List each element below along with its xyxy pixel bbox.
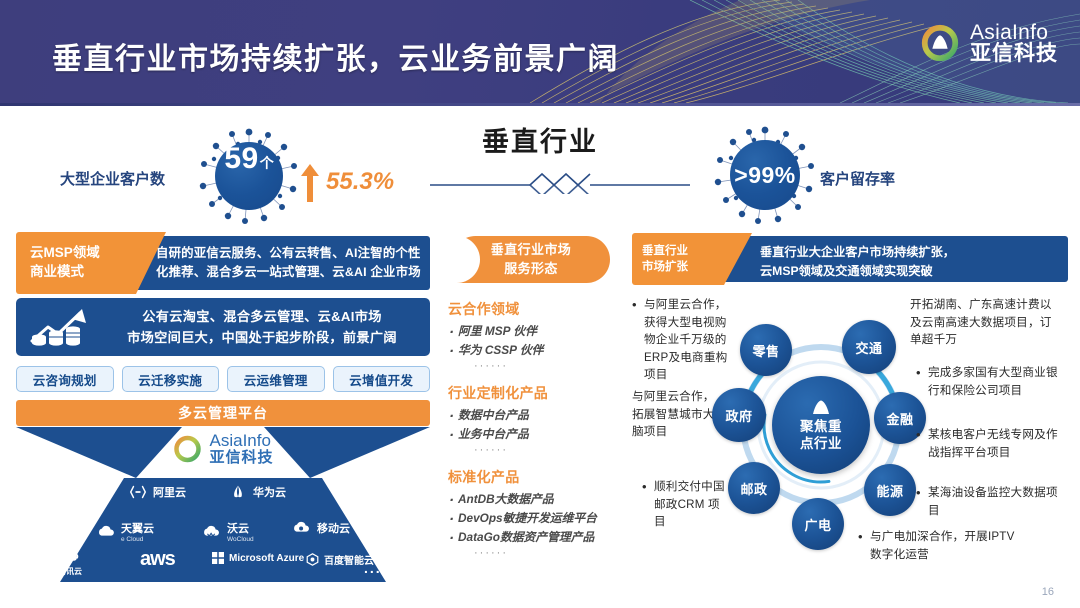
vendor-name: 腾讯云	[58, 566, 82, 577]
vendor-aliyun: 阿里云	[128, 484, 186, 500]
list-item: DataGo数据资产管理产品	[448, 528, 620, 547]
bullet-text: 某核电客户无线专网及作战指挥平台项目	[928, 428, 1058, 459]
market-expansion-headline: 垂直行业大企业客户市场持续扩张， 云MSP领域及交通领域实现突破	[760, 243, 1060, 281]
market-opportunity-bar: 公有云淘宝、混合多云管理、云&AI市场 市场空间巨大，中国处于起步阶段，前景广阔	[16, 298, 430, 356]
vendor-name: 移动云	[317, 520, 350, 536]
bullet-offshore-oil: • 某海油设备监控大数据项目	[928, 484, 1062, 519]
vendor-wo-cloud: 沃云WoCloud	[202, 520, 254, 543]
section-title-vertical-industry: 垂直行业	[0, 120, 1080, 159]
hub-node-government[interactable]: 政府	[712, 388, 766, 442]
vendor-name: ...	[364, 560, 382, 576]
hub-node-label: 金融	[886, 409, 913, 428]
vendor-huawei-cloud: 华为云	[228, 484, 286, 500]
list-item: DevOps敏捷开发运维平台	[448, 509, 620, 528]
bullet-text: 与广电加深合作，开展IPTV数字化运营	[870, 530, 1015, 561]
group-heading: 云合作领域	[448, 299, 620, 319]
hub-node-label: 政府	[725, 406, 752, 425]
bullet-smart-city: 与阿里云合作，拓展智慧城市大脑项目	[632, 388, 720, 441]
group-heading: 行业定制化产品	[448, 383, 620, 403]
headline-line2: 云MSP领域及交通领域实现突破	[760, 262, 1060, 281]
chip-cloud-migration[interactable]: 云迁移实施	[122, 366, 220, 392]
hub-node-label: 广电	[804, 515, 831, 534]
hub-node-broadcast[interactable]: 广电	[792, 498, 844, 550]
msp-description-line2: 化推荐、混合多云一站式管理、云&AI 企业市场	[156, 263, 422, 282]
stat-large-enterprise-customers: 59 个	[190, 126, 308, 226]
bullet-text: 某海油设备监控大数据项目	[928, 486, 1058, 517]
vendor-subname: WoCloud	[227, 536, 254, 543]
stat-value: >99%	[734, 162, 795, 189]
bullet-text: 开拓湖南、广东高速计费以及云南高速大数据项目，订单超千万	[910, 298, 1052, 346]
group-standard-products: 标准化产品 AntDB大数据产品 DevOps敏捷开发运维平台 DataGo数据…	[448, 467, 620, 561]
tencent-icon	[58, 548, 82, 565]
group-heading: 标准化产品	[448, 467, 620, 487]
cloud-icon	[96, 524, 116, 540]
decorative-divider	[430, 168, 690, 194]
hub-core: 聚焦重 点行业	[772, 376, 870, 474]
bullet-text: 与阿里云合作，拓展智慧城市大脑项目	[632, 390, 715, 438]
slide-root: 垂直行业市场持续扩张，云业务前景广阔 AsiaInfo 亚信科技 垂直行业	[0, 0, 1080, 608]
bullet-text: 完成多家国有大型商业银行和保险公司项目	[928, 366, 1058, 397]
bullet-dot: •	[642, 477, 647, 497]
vendor-name: 阿里云	[153, 484, 186, 500]
asiainfo-logo-icon	[919, 22, 961, 64]
growth-percent: 55.3%	[326, 168, 394, 196]
arrow-up-icon	[300, 162, 320, 202]
msp-description: 自研的亚信云服务、公有云转售、AI注智的个性 化推荐、混合多云一站式管理、云&A…	[156, 244, 422, 282]
hub-node-transport[interactable]: 交通	[842, 320, 896, 374]
bullet-dot: •	[916, 483, 921, 503]
bullet-dot: •	[916, 363, 921, 383]
bullet-text: 与阿里云合作，获得大型电视购物企业千万级的ERP及电商重构项目	[644, 298, 727, 381]
stat-customer-retention: >99%	[706, 124, 824, 226]
bullet-dot: •	[632, 295, 637, 315]
vendor-mobile-cloud: 移动云	[292, 520, 350, 536]
hub-core-line1: 聚焦重	[800, 419, 842, 436]
list-item: AntDB大数据产品	[448, 490, 620, 509]
list-item: 阿里 MSP 伙伴	[448, 322, 620, 341]
hub-node-retail[interactable]: 零售	[740, 324, 792, 376]
market-expansion-tag-arrow	[724, 233, 752, 285]
page-title: 垂直行业市场持续扩张，云业务前景广阔	[52, 34, 619, 78]
msp-description-line1: 自研的亚信云服务、公有云转售、AI注智的个性	[156, 244, 422, 263]
vendor-aws: aws	[140, 548, 175, 571]
vendor-name: 华为云	[253, 484, 286, 500]
stat-value-circle: 59 个	[215, 142, 283, 210]
list-item: 数据中台产品	[448, 406, 620, 425]
vendor-name: Microsoft Azure	[229, 553, 304, 564]
stat-label-right: 客户留存率	[820, 168, 895, 189]
bullet-nuclear-network: • 某核电客户无线专网及作战指挥平台项目	[928, 426, 1062, 461]
group-ellipsis: ······	[448, 547, 620, 560]
chip-cloud-value-dev[interactable]: 云增值开发	[333, 366, 431, 392]
market-expansion-tag: 垂直行业 市场扩张	[632, 233, 724, 285]
growth-indicator: 55.3%	[300, 162, 394, 202]
asiainfo-center-logo: AsiaInfo 亚信科技	[172, 432, 273, 466]
right-panel: 垂直行业 市场扩张 垂直行业大企业客户市场持续扩张， 云MSP领域及交通领域实现…	[632, 236, 1068, 586]
cloud-icon	[202, 524, 222, 540]
vendor-subname: e Cloud	[121, 536, 154, 543]
brand-name-cn: 亚信科技	[970, 43, 1058, 64]
hub-node-label: 零售	[752, 341, 779, 360]
list-item: 华为 CSSP 伙伴	[448, 341, 620, 360]
group-ellipsis: ······	[448, 444, 620, 457]
microsoft-icon	[212, 552, 224, 564]
market-line2: 市场空间巨大，中国处于起步阶段，前景广阔	[100, 327, 424, 348]
growth-chart-icon	[24, 303, 100, 351]
vendor-more-ellipsis: ...	[364, 560, 382, 576]
hub-node-label: 交通	[855, 338, 882, 357]
left-panel: 云MSP领域 商业模式 自研的亚信云服务、公有云转售、AI注智的个性 化推荐、混…	[16, 236, 430, 584]
bullet-highway-billing: 开拓湖南、广东高速计费以及云南高速大数据项目，订单超千万	[910, 296, 1062, 349]
service-forms-line1: 垂直行业市场	[491, 241, 571, 259]
cloud-icon	[292, 520, 312, 536]
stat-value: 59	[224, 142, 258, 176]
brand-name-en: AsiaInfo	[970, 22, 1058, 43]
asiainfo-name-en: AsiaInfo	[209, 432, 273, 450]
chip-cloud-ops[interactable]: 云运维管理	[227, 366, 325, 392]
asiainfo-name-cn: 亚信科技	[209, 450, 273, 466]
vendor-azure: Microsoft Azure	[212, 552, 304, 564]
slide-header: 垂直行业市场持续扩张，云业务前景广阔 AsiaInfo 亚信科技	[0, 0, 1080, 103]
cloud-vendor-list: 阿里云 华为云 天翼云e Cloud	[16, 484, 430, 582]
group-ellipsis: ······	[448, 360, 620, 373]
page-number: 16	[1042, 586, 1054, 598]
stat-value-circle: >99%	[730, 140, 800, 210]
vendor-name: aws	[140, 548, 175, 571]
hub-core-line2: 点行业	[800, 436, 842, 453]
cloud-vendor-funnel: AsiaInfo 亚信科技 阿里云	[16, 426, 430, 584]
asiainfo-mark-icon	[809, 398, 833, 416]
stat-label-left: 大型企业客户数	[60, 168, 165, 189]
stats-band: 垂直行业	[0, 106, 1080, 228]
service-chips: 云咨询规划 云迁移实施 云运维管理 云增值开发	[16, 366, 430, 392]
market-line1: 公有云淘宝、混合多云管理、云&AI市场	[100, 306, 424, 327]
bullet-state-banks: • 完成多家国有大型商业银行和保险公司项目	[928, 364, 1062, 399]
hub-node-post[interactable]: 邮政	[728, 462, 780, 514]
group-cloud-partnership: 云合作领域 阿里 MSP 伙伴 华为 CSSP 伙伴 ······	[448, 299, 620, 373]
vendor-tencent-cloud: 腾讯云	[58, 548, 82, 577]
asiainfo-logo-icon	[172, 434, 202, 464]
middle-panel: 垂直行业市场 服务形态 云合作领域 阿里 MSP 伙伴 华为 CSSP 伙伴 ·…	[446, 236, 618, 586]
vendor-name: 沃云	[227, 523, 249, 535]
msp-tag-label: 云MSP领域 商业模式	[16, 232, 136, 294]
vendor-tianyi-cloud: 天翼云e Cloud	[96, 520, 154, 543]
group-industry-custom-products: 行业定制化产品 数据中台产品 业务中台产品 ······	[448, 383, 620, 457]
bullet-iptv: • 与广电加深合作，开展IPTV数字化运营	[870, 528, 1020, 563]
vendor-name: 天翼云	[121, 523, 154, 535]
bullet-dot: •	[858, 527, 863, 547]
multicloud-platform-bar: 多云管理平台	[16, 400, 430, 426]
bullet-dot: •	[916, 425, 921, 445]
stat-unit: 个	[260, 153, 274, 173]
msp-tag-line1: 云MSP领域	[30, 244, 136, 263]
baidu-icon	[306, 553, 319, 566]
market-expansion-tag-line2: 市场扩张	[642, 259, 724, 275]
market-description: 公有云淘宝、混合多云管理、云&AI市场 市场空间巨大，中国处于起步阶段，前景广阔	[100, 306, 430, 348]
bullet-text: 顺利交付中国邮政CRM 项目	[654, 480, 725, 528]
brand-logo: AsiaInfo 亚信科技	[919, 22, 1058, 65]
headline-line1: 垂直行业大企业客户市场持续扩张，	[760, 243, 1060, 262]
market-expansion-tag-line1: 垂直行业	[642, 243, 724, 259]
msp-tag-line2: 商业模式	[30, 263, 136, 282]
service-forms-line2: 服务形态	[504, 260, 558, 278]
hub-node-energy[interactable]: 能源	[864, 464, 916, 516]
hub-node-label: 能源	[876, 481, 903, 500]
chip-cloud-consulting[interactable]: 云咨询规划	[16, 366, 114, 392]
list-item: 业务中台产品	[448, 425, 620, 444]
focus-industries-hub: 零售 交通 金融 能源 广电 邮政 政府 聚焦重 点行业	[716, 298, 926, 553]
huawei-icon	[228, 484, 248, 500]
aliyun-icon	[128, 484, 148, 500]
hub-node-label: 邮政	[740, 479, 767, 498]
